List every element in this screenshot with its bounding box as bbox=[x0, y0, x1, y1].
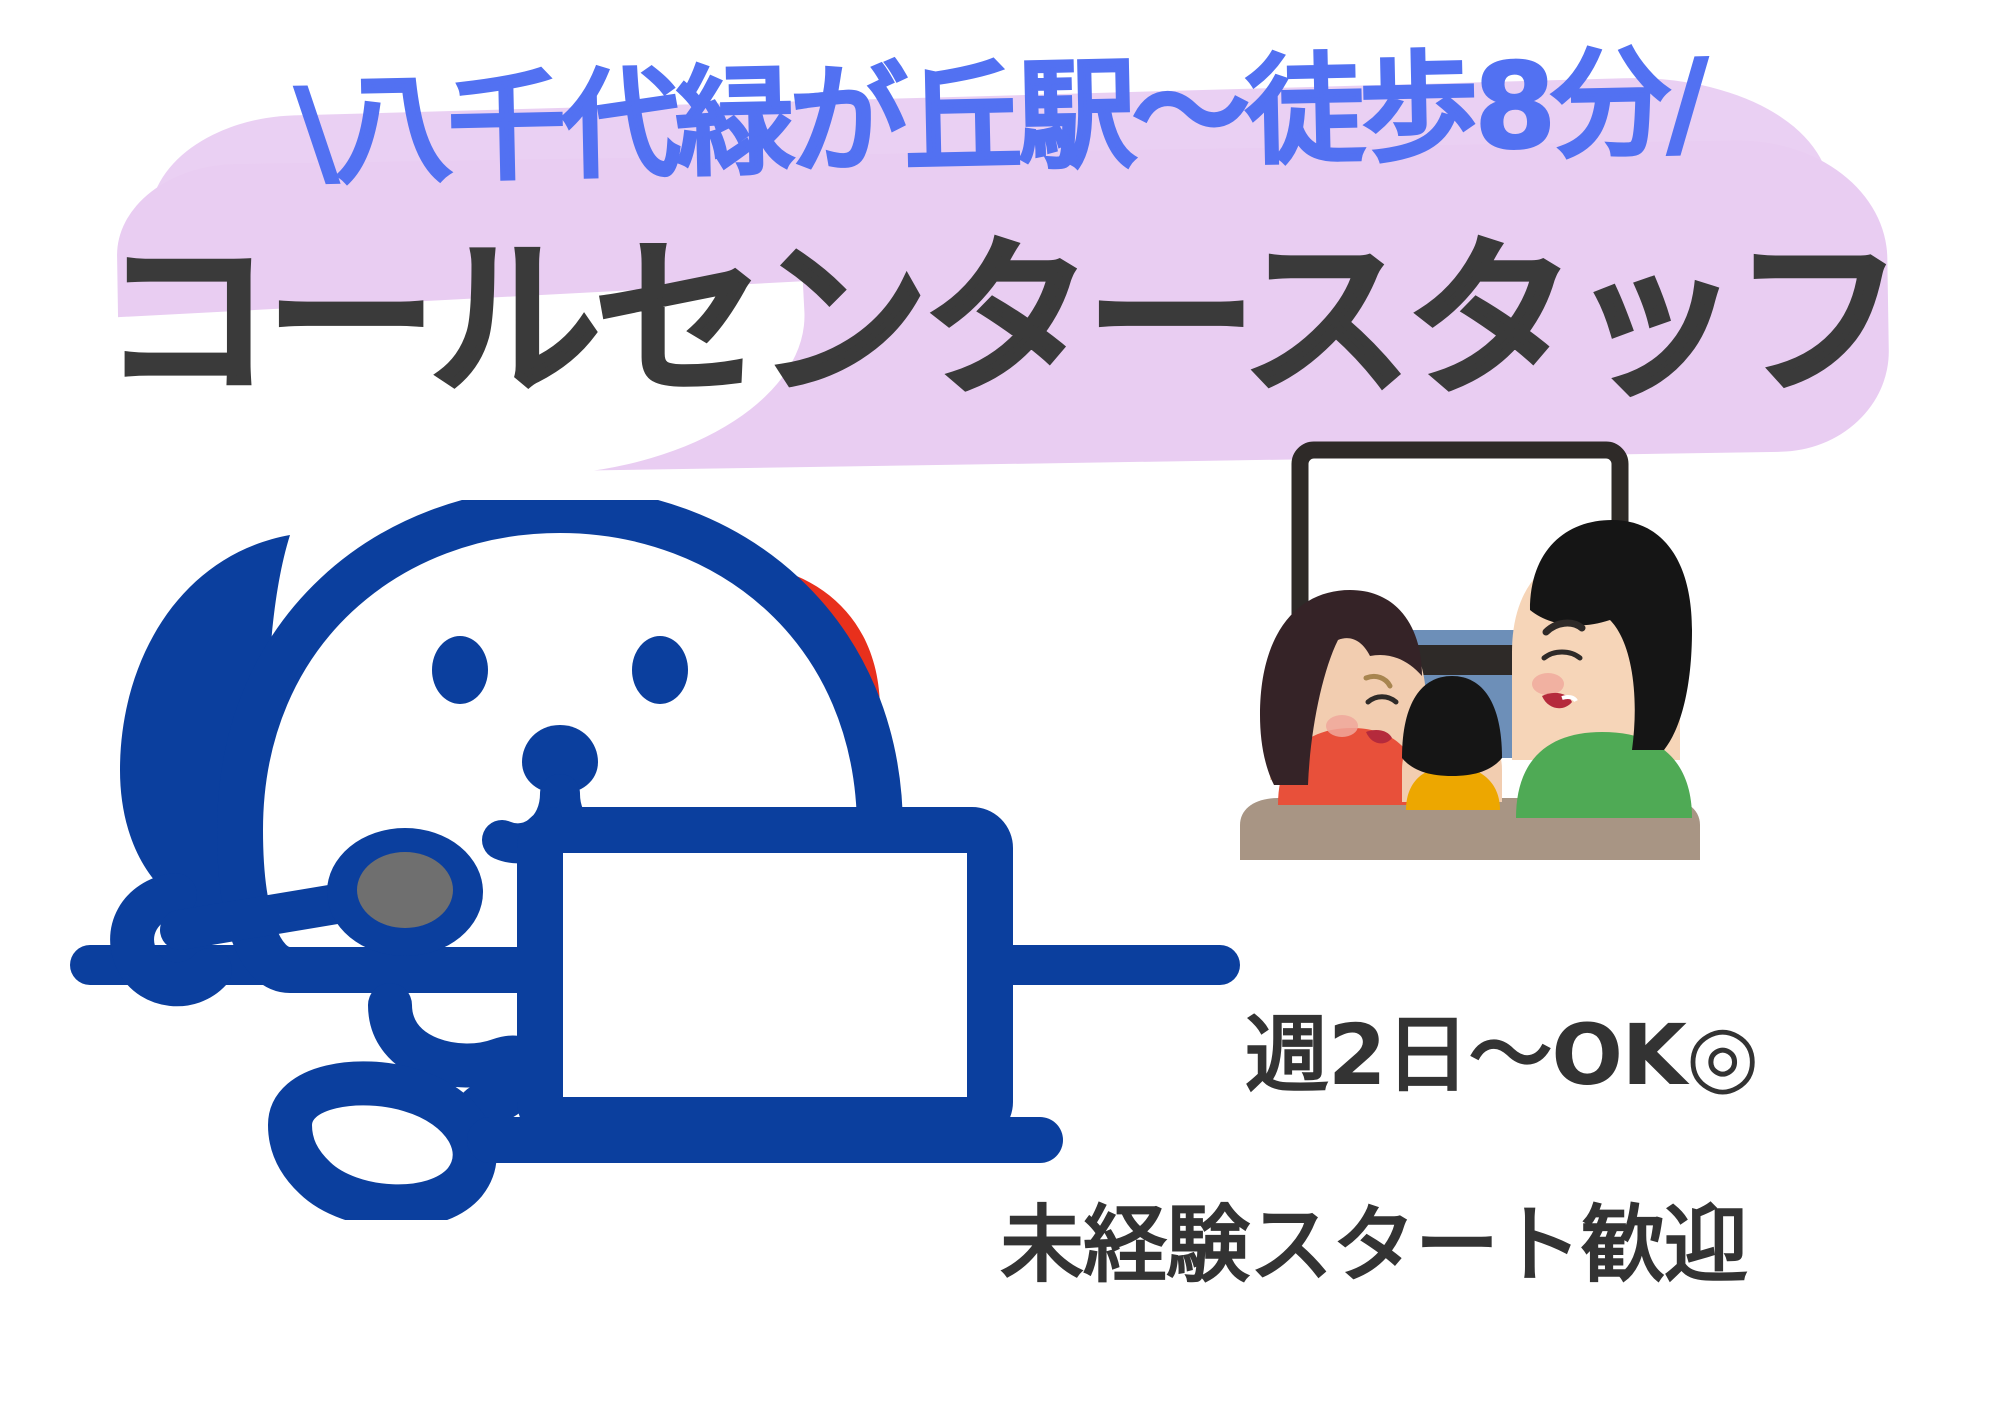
family-man bbox=[1512, 520, 1692, 818]
page-title: コールセンタースタッフ bbox=[0, 236, 2000, 406]
job-ad-banner: \八千代緑が丘駅～徒歩8分/ コールセンタースタッフ bbox=[0, 0, 2000, 1414]
mascot-hand bbox=[290, 1083, 475, 1206]
family-woman bbox=[1260, 590, 1426, 805]
family-child bbox=[1402, 676, 1502, 810]
call-center-operator-mascot bbox=[60, 500, 1260, 1220]
headset-mic-muff bbox=[357, 852, 453, 928]
family-watching-monitor bbox=[1230, 440, 1710, 910]
mascot-left-eye bbox=[432, 636, 488, 704]
mascot-right-eye bbox=[632, 636, 688, 704]
tagline-no-experience: 未経験スタート歓迎 bbox=[1000, 1178, 1747, 1299]
tagline-weekly-days: 週2日〜OK◎ bbox=[1245, 988, 1758, 1109]
laptop-screen bbox=[540, 830, 990, 1120]
